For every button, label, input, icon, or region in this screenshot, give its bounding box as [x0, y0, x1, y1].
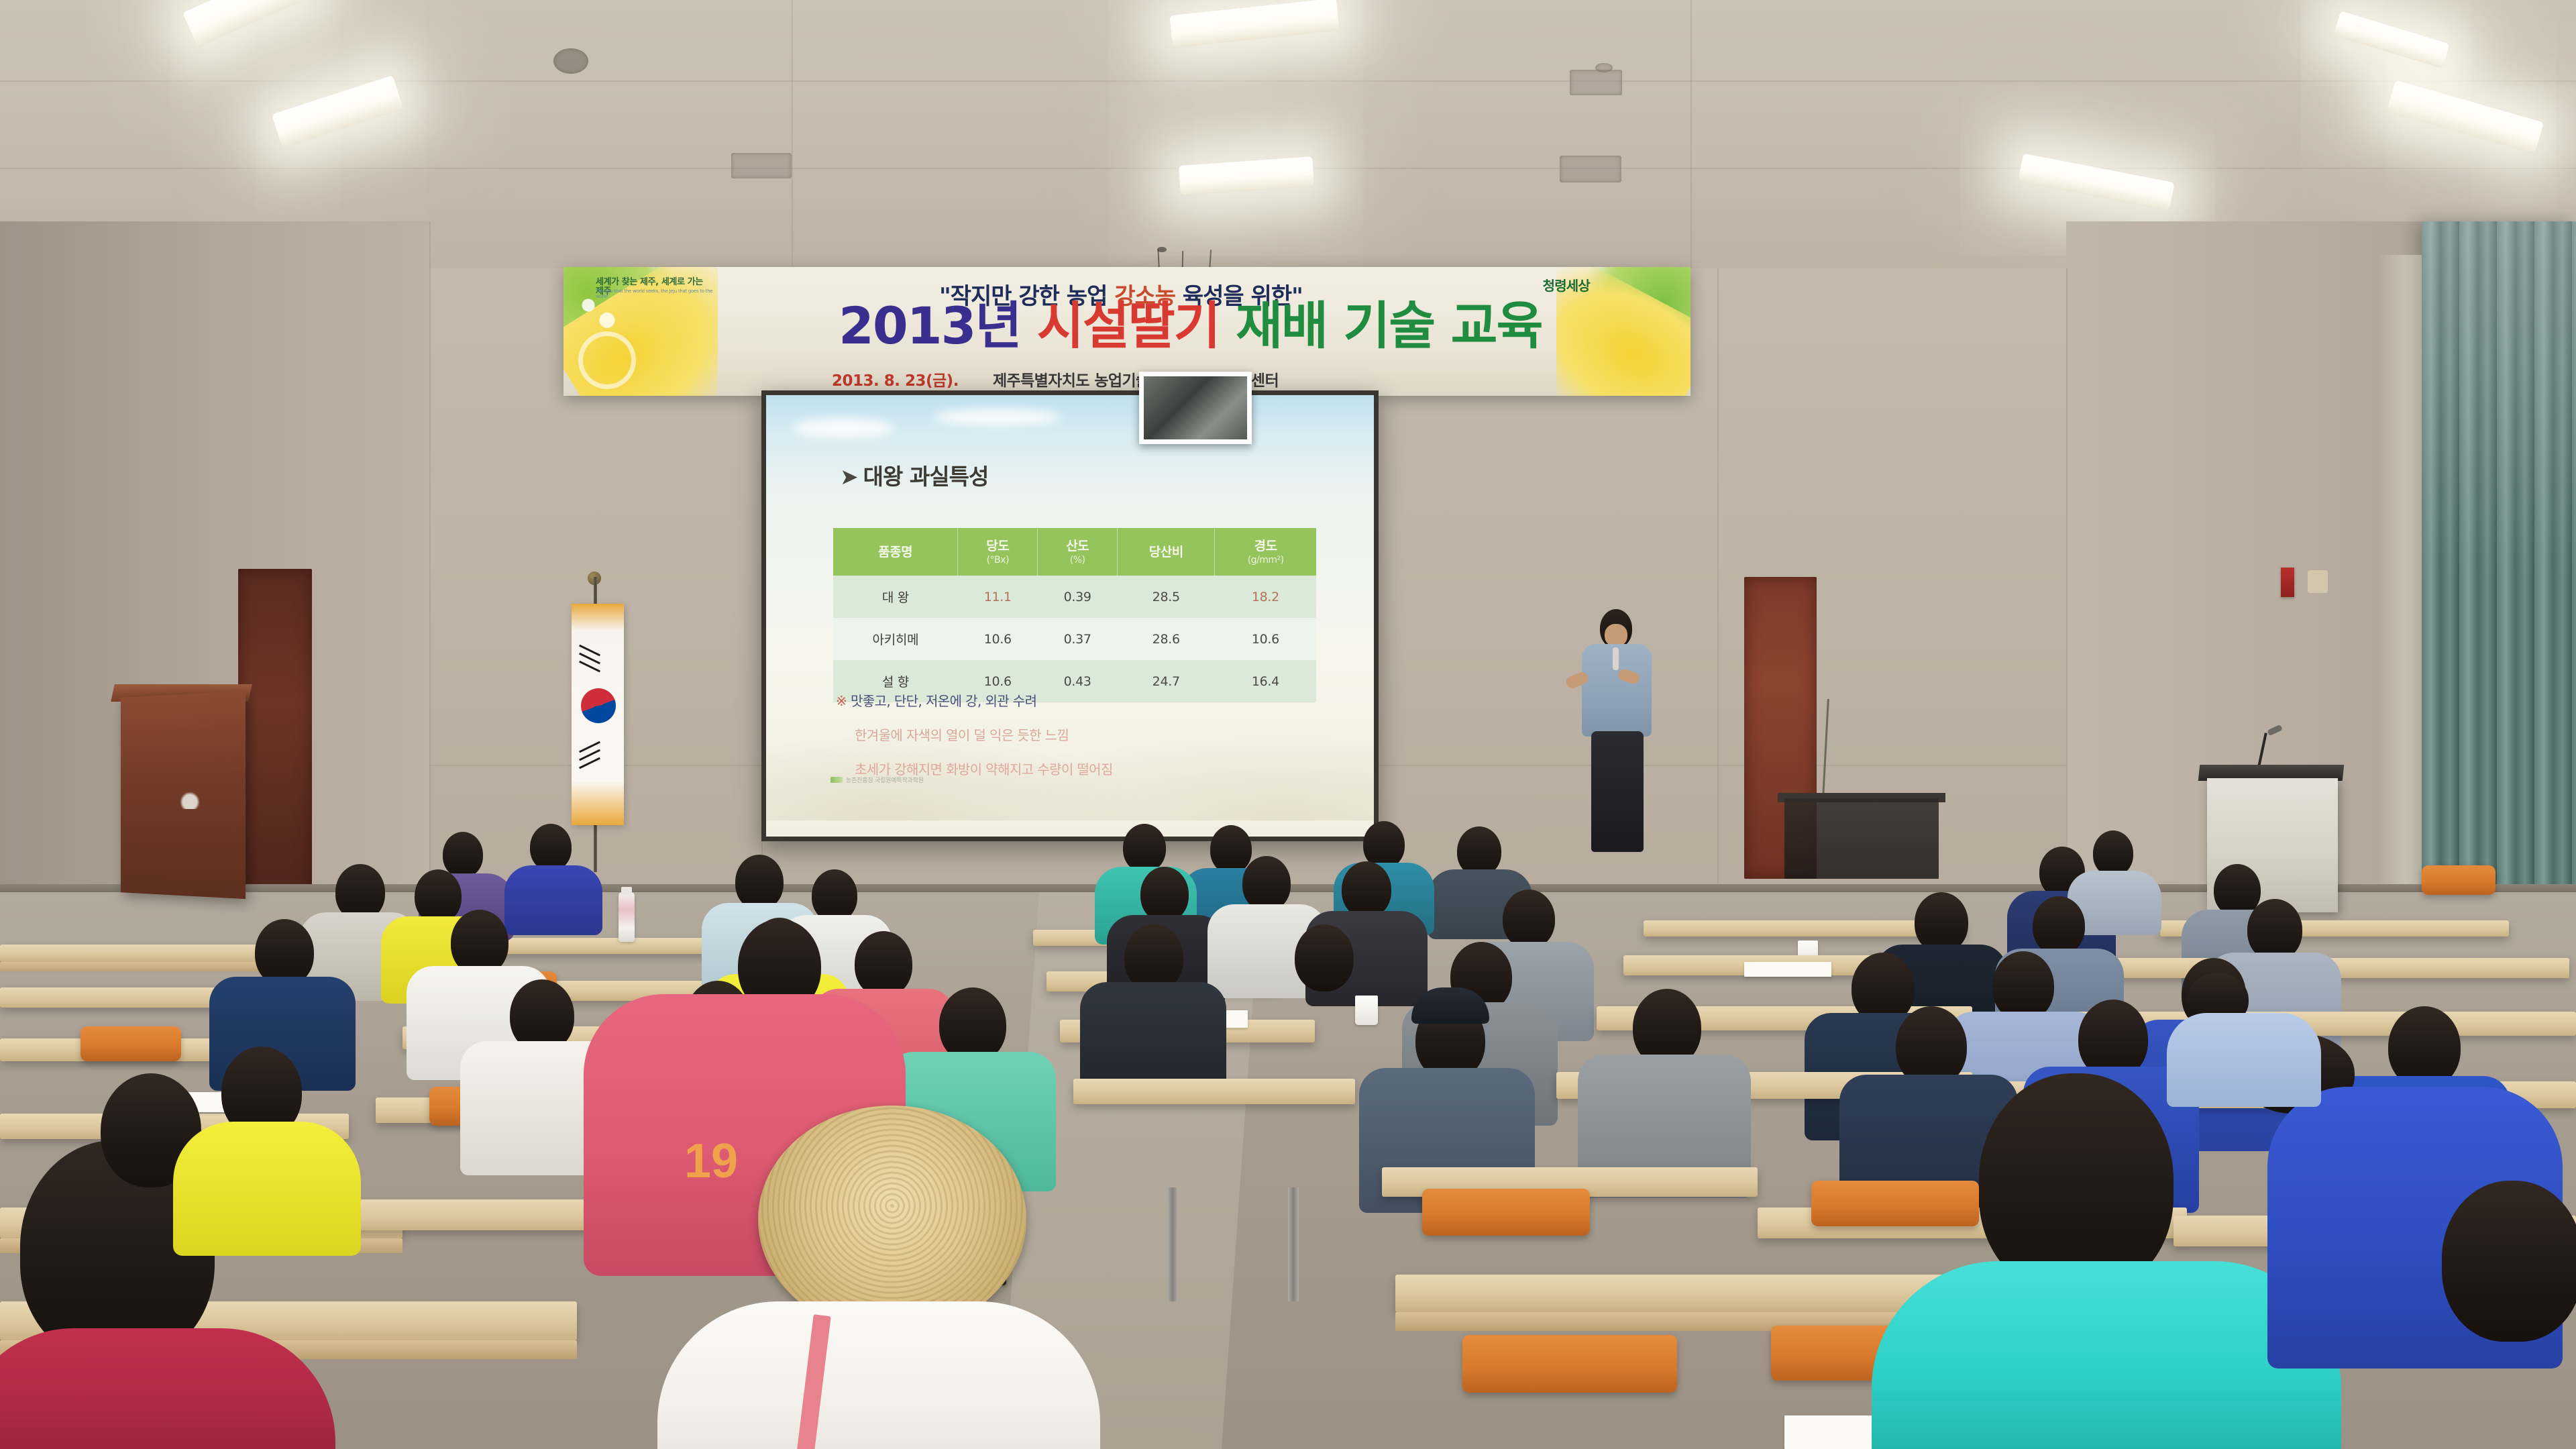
slide-footer: 농촌진흥청 국립원예특작과학원 [830, 775, 924, 784]
handout-paper[interactable] [1744, 962, 1831, 977]
cell-brix: 10.6 [958, 618, 1038, 660]
slide-title: ➤대왕 과실특성 [840, 459, 988, 491]
corner-mark-text: 청령세상 [1543, 278, 1590, 294]
col-header-variety: 품종명 [833, 528, 958, 576]
podium-emblem-icon [180, 792, 200, 809]
projection-screen-frame: ➤대왕 과실특성 품종명 당도(°Bx) 산도(%) 당산비 경도(g/mm²)… [761, 390, 1379, 841]
projection-screen: ➤대왕 과실특성 품종명 당도(°Bx) 산도(%) 당산비 경도(g/mm²)… [766, 395, 1374, 837]
presenter-face [1605, 624, 1627, 647]
shirt-print-number: 19 [684, 1134, 738, 1189]
slide-bullet-arrow-icon: ➤ [840, 464, 858, 490]
ceiling-light [2018, 153, 2175, 210]
ceiling-vent [1570, 70, 1622, 95]
av-equipment-table [1784, 798, 1939, 879]
ceiling-vent [1560, 156, 1621, 182]
event-banner: 세계가 찾는 제주, 세계로 가는 제주 The Jeju that the w… [563, 267, 1690, 396]
taeguk-symbol-icon [581, 688, 616, 723]
rda-logo-icon [830, 777, 843, 783]
ceiling-light [2333, 11, 2450, 68]
table-row: 아키히메 10.6 0.37 28.6 10.6 [833, 618, 1316, 660]
door-left[interactable] [238, 569, 312, 904]
ceiling-light [182, 0, 314, 47]
wall-patch [2308, 570, 2328, 593]
fire-alarm-icon [2281, 568, 2294, 597]
cell-firmness: 18.2 [1215, 576, 1316, 618]
banner-slogan-en: The Jeju that the world seeks, the Jeju … [596, 288, 716, 299]
cell-ratio: 28.5 [1118, 576, 1215, 618]
col-header-acidity: 산도(%) [1038, 528, 1118, 576]
smoke-detector-icon [1595, 63, 1613, 72]
col-header-firmness: 경도(g/mm²) [1215, 528, 1316, 576]
banner-corner-mark: 청령세상 [1543, 275, 1590, 294]
cell-firmness: 10.6 [1215, 618, 1316, 660]
cell-variety: 대 왕 [833, 576, 958, 618]
banner-title: 2013년 시설딸기 재배 기술 교육 [839, 301, 1542, 352]
inset-photo [1139, 372, 1252, 444]
slide-note-1: ※ 맛좋고, 단단, 저온에 강, 외관 수려 [836, 690, 1305, 710]
lecture-hall-photo: 세계가 찾는 제주, 세계로 가는 제주 The Jeju that the w… [0, 0, 2576, 1449]
presenter-trousers [1591, 731, 1644, 852]
col-header-brix: 당도(°Bx) [958, 528, 1038, 576]
col-header-ratio: 당산비 [1118, 528, 1215, 576]
ceiling-speaker-icon [553, 48, 588, 74]
ceiling-light [272, 75, 404, 148]
slide-title-text: 대왕 과실특성 [863, 464, 989, 490]
window-glow [2378, 255, 2425, 926]
ceiling-vent [731, 153, 792, 178]
slide-data-table: 품종명 당도(°Bx) 산도(%) 당산비 경도(g/mm²) 대 왕 11.1… [833, 528, 1316, 702]
ceiling-light [1179, 156, 1315, 195]
cell-acidity: 0.39 [1038, 576, 1118, 618]
note-star-icon: ※ [836, 693, 847, 709]
ceiling-light [2387, 80, 2544, 154]
cell-ratio: 28.6 [1118, 618, 1215, 660]
table-header-row: 품종명 당도(°Bx) 산도(%) 당산비 경도(g/mm²) [833, 528, 1316, 576]
banner-title-red: 시설딸기 [1037, 296, 1220, 356]
cell-variety: 아키히메 [833, 618, 958, 660]
table-row: 대 왕 11.1 0.39 28.5 18.2 [833, 576, 1316, 618]
presenter-microphone-icon [1613, 647, 1619, 670]
banner-date: 2013. 8. 23(금). [832, 368, 959, 390]
cell-brix: 11.1 [958, 576, 1038, 618]
banner-title-year: 2013년 [839, 296, 1020, 356]
ceiling-light [1169, 0, 1340, 48]
slide-note-2: 한겨울에 자색의 열이 덜 익은 듯한 느낌 [836, 724, 1305, 744]
water-bottle[interactable] [619, 892, 635, 942]
banner-title-green: 재배 기술 교육 [1236, 296, 1542, 356]
cell-acidity: 0.37 [1038, 618, 1118, 660]
